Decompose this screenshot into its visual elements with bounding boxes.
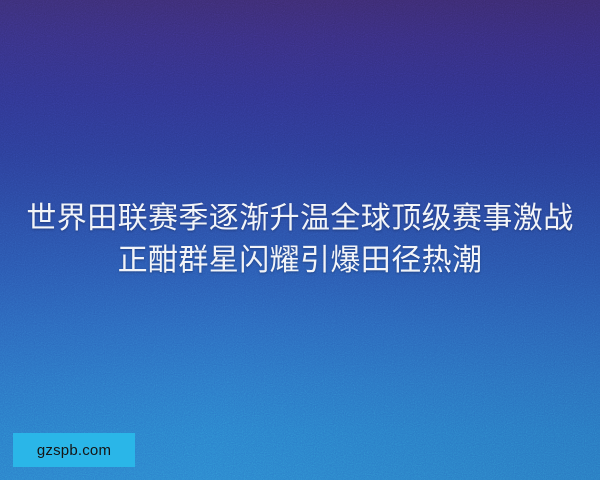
watermark-label: gzspb.com [37, 442, 111, 459]
image-canvas: 世界田联赛季逐渐升温全球顶级赛事激战 正酣群星闪耀引爆田径热潮 gzspb.co… [0, 0, 600, 480]
watermark-badge: gzspb.com [13, 433, 135, 467]
headline-text: 世界田联赛季逐渐升温全球顶级赛事激战 正酣群星闪耀引爆田径热潮 [0, 198, 600, 282]
headline-line-2: 正酣群星闪耀引爆田径热潮 [0, 240, 600, 282]
headline-line-1: 世界田联赛季逐渐升温全球顶级赛事激战 [0, 198, 600, 240]
